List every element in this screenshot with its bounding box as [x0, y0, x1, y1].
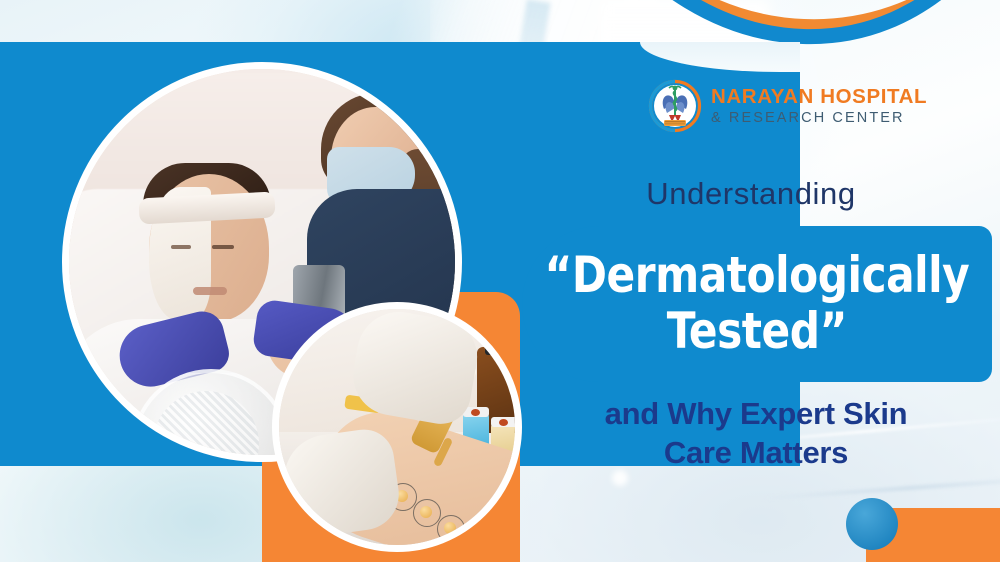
- headline-title-line1: “Dermatologically: [545, 250, 970, 301]
- blue-circle-dot-bottom-right: [846, 498, 898, 550]
- caduceus-hands-circle-logo-icon: [648, 79, 702, 133]
- swoosh-top-right-icon: [600, 0, 1000, 48]
- brand-logo-lockup: NARAYAN HOSPITAL & RESEARCH CENTER: [648, 78, 948, 134]
- brand-name-line1: NARAYAN HOSPITAL: [711, 87, 927, 108]
- background-light-streak-lower: [760, 476, 1000, 501]
- headline-subtitle-line2: Care Matters: [520, 433, 992, 472]
- brand-name-line2: & RESEARCH CENTER: [711, 111, 927, 126]
- headline-title-box: “Dermatologically Tested”: [522, 226, 992, 382]
- skin-patch-test-photo: [272, 302, 522, 552]
- headline-subtitle: and Why Expert Skin Care Matters: [520, 394, 992, 472]
- headline-title-line2: Tested”: [667, 305, 847, 358]
- headline-subtitle-line1: and Why Expert Skin: [520, 394, 992, 433]
- headline-kicker: Understanding: [520, 176, 982, 212]
- banner-canvas: NARAYAN HOSPITAL & RESEARCH CENTER Under…: [0, 0, 1000, 562]
- background-bokeh-dot: [612, 470, 628, 486]
